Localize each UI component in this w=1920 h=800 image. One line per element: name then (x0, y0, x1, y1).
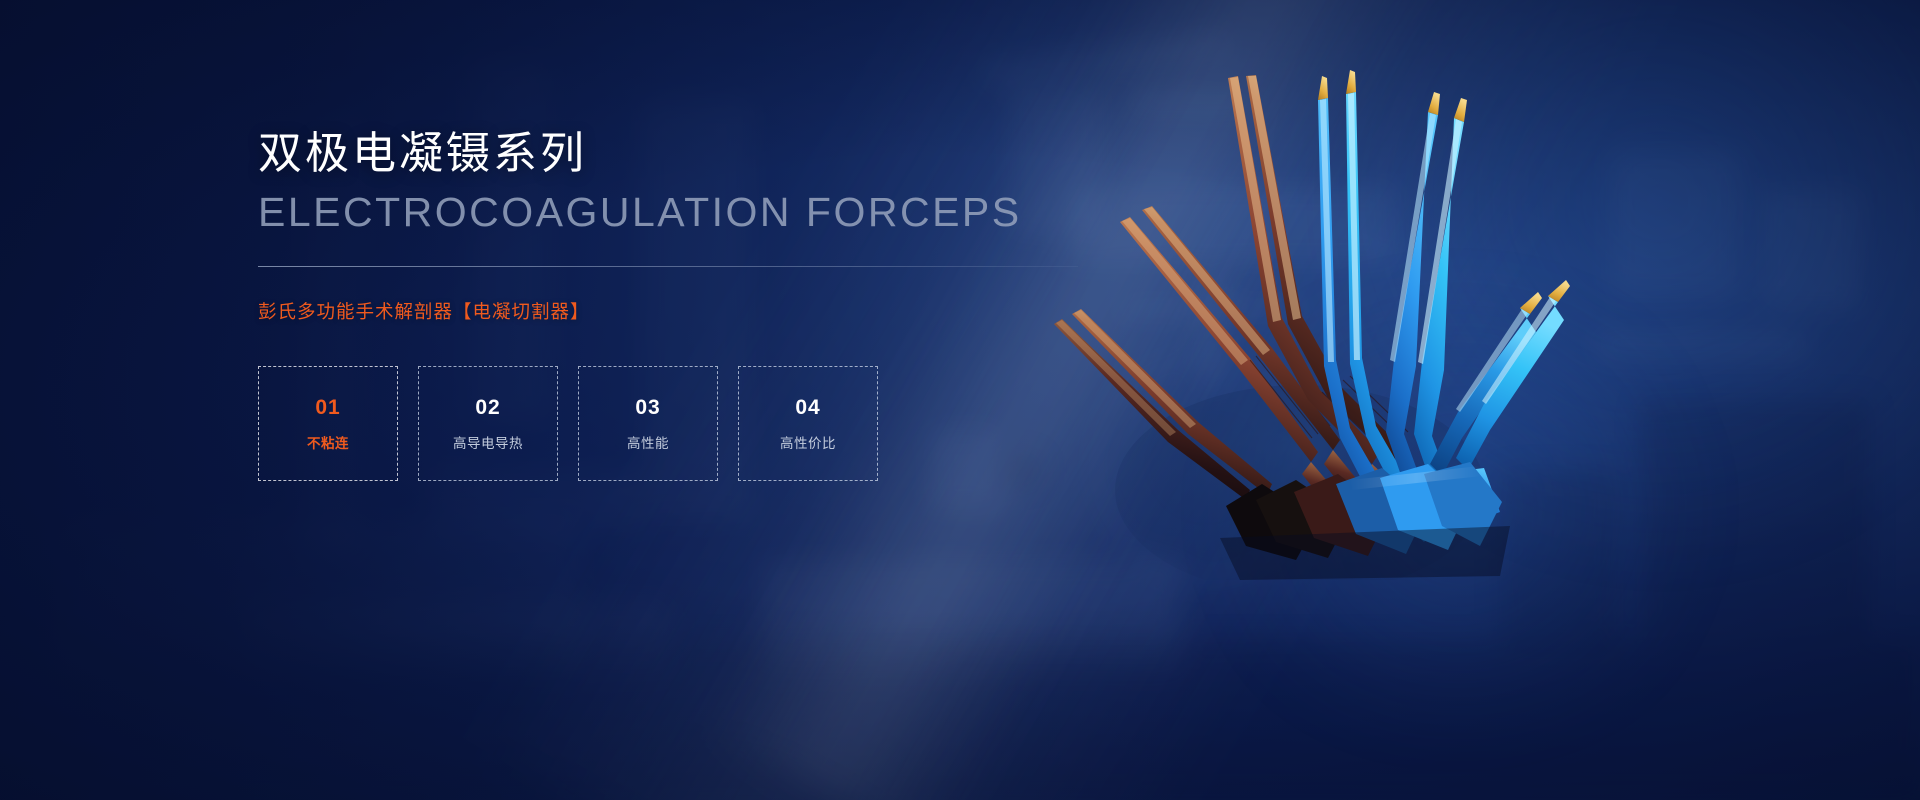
feature-number: 01 (315, 396, 340, 420)
banner-content: 双极电凝镊系列 ELECTROCOAGULATION FORCEPS 彭氏多功能… (258, 128, 1108, 481)
feature-label: 不粘连 (307, 432, 349, 452)
feature-label: 高导电导热 (453, 432, 523, 452)
feature-card-01[interactable]: 01 不粘连 (258, 366, 398, 481)
page-title: 双极电凝镊系列 (258, 128, 1108, 180)
feature-label: 高性价比 (780, 432, 836, 452)
feature-card-04[interactable]: 04 高性价比 (738, 366, 878, 481)
feature-card-03[interactable]: 03 高性能 (578, 366, 718, 481)
product-banner: 双极电凝镊系列 ELECTROCOAGULATION FORCEPS 彭氏多功能… (0, 0, 1920, 800)
feature-number: 02 (475, 396, 500, 420)
feature-label: 高性能 (627, 432, 669, 452)
feature-list: 01 不粘连 02 高导电导热 03 高性能 04 高性价比 (258, 366, 1108, 481)
page-subtitle-english: ELECTROCOAGULATION FORCEPS (258, 188, 1108, 237)
feature-number: 03 (635, 396, 660, 420)
product-name-subtitle: 彭氏多功能手术解剖器【电凝切割器】 (258, 298, 1108, 324)
divider (258, 266, 1078, 267)
feature-card-02[interactable]: 02 高导电导热 (418, 366, 558, 481)
feature-number: 04 (795, 396, 820, 420)
